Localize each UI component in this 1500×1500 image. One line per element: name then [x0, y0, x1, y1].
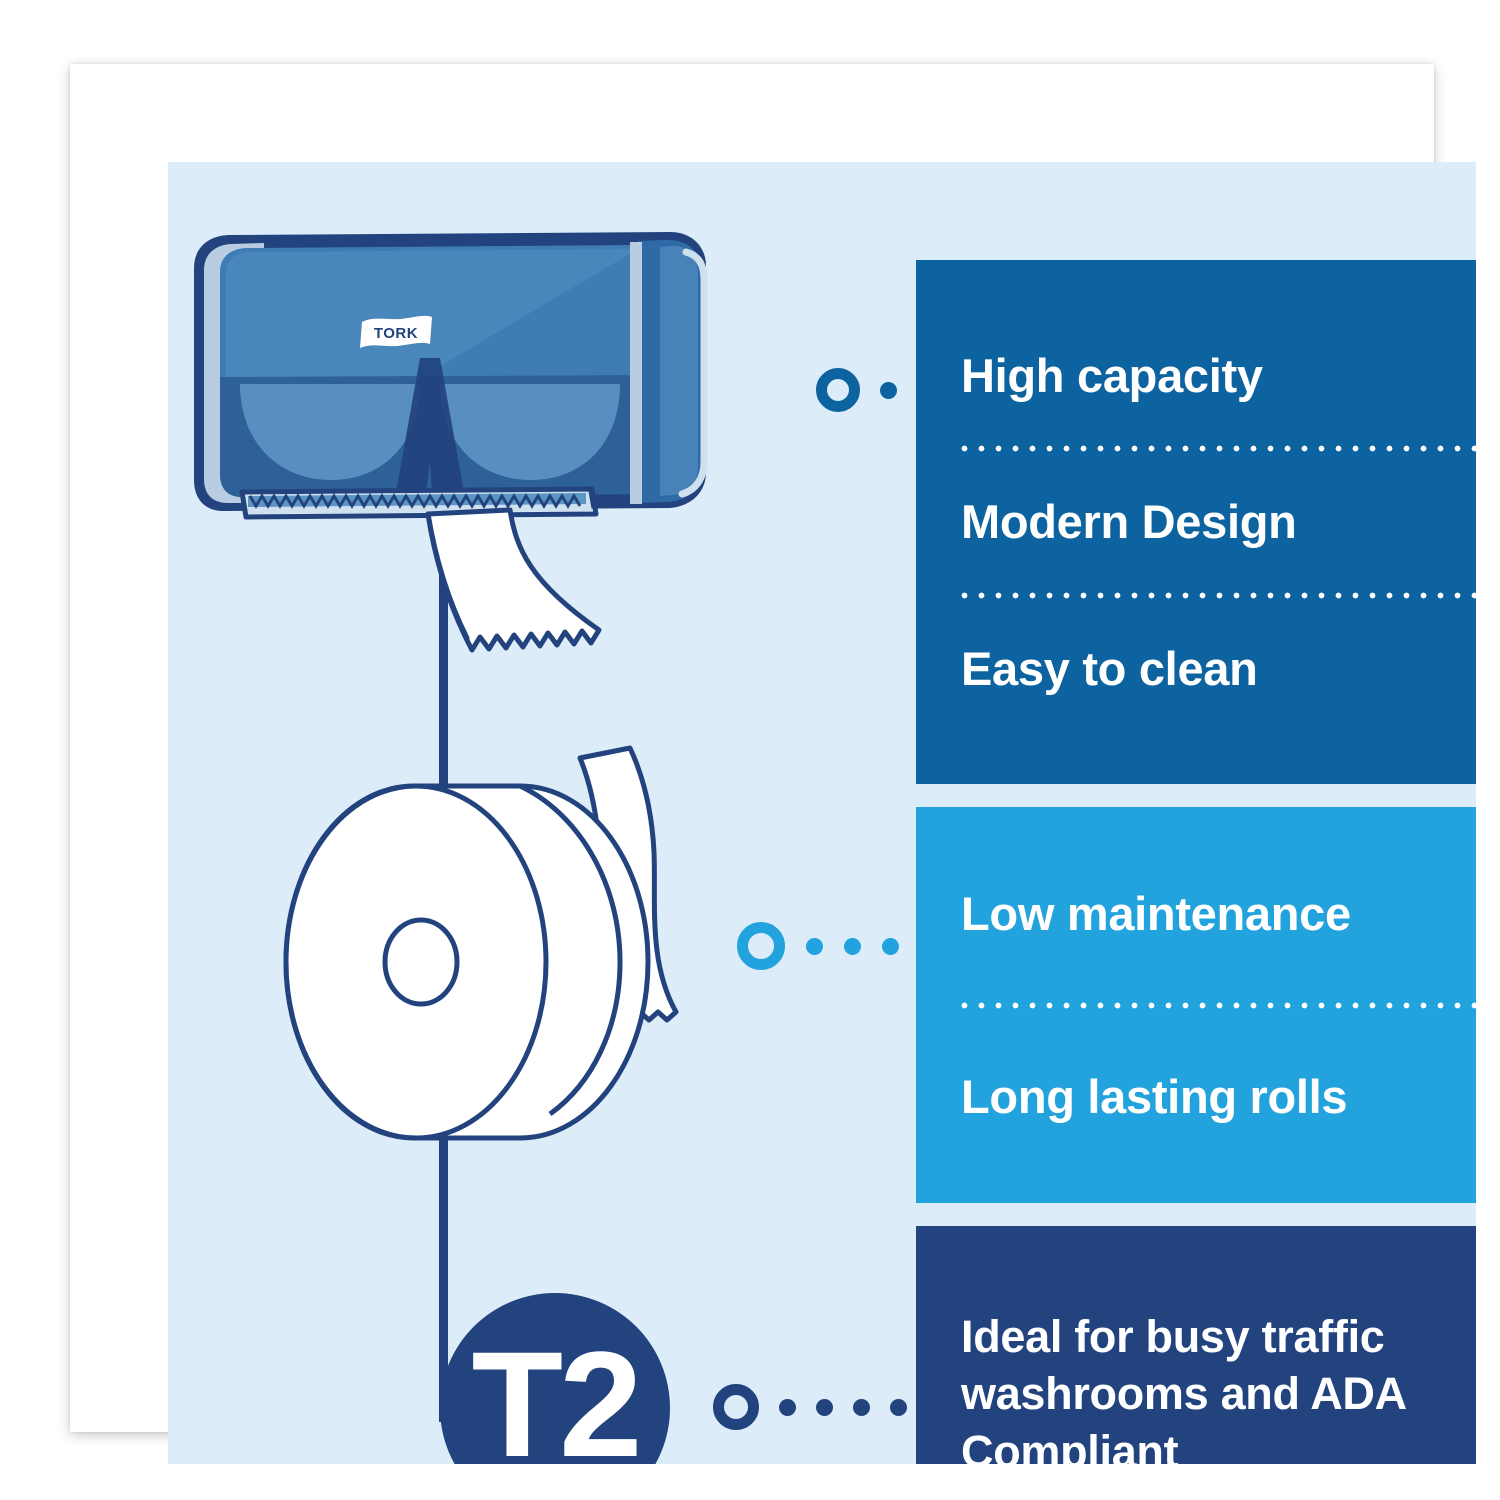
connector-dot-icon: [853, 1399, 870, 1416]
connector-dot-icon: [880, 382, 897, 399]
feature-item: Long lasting rolls: [961, 1072, 1476, 1121]
dotted-divider: [961, 592, 1476, 599]
feature-item: Low maintenance: [961, 889, 1476, 938]
illustration-canvas: TORK: [168, 162, 1476, 1464]
feature-panel-high-capacity: High capacity Modern Design Easy to clea…: [916, 260, 1476, 784]
dotted-divider: [961, 445, 1476, 452]
feature-panel-content: Ideal for busy traffic washrooms and ADA…: [961, 1226, 1476, 1464]
product-illustration: TORK: [168, 162, 928, 1464]
feature-item: Easy to clean: [961, 644, 1476, 693]
infographic-stage: TORK: [0, 0, 1500, 1500]
feature-item: High capacity: [961, 351, 1476, 400]
feature-item: Ideal for busy traffic washrooms and ADA…: [961, 1308, 1476, 1464]
product-card: TORK: [70, 64, 1434, 1432]
illustration-svg: TORK: [168, 162, 928, 1464]
connector-dot-icon: [890, 1399, 907, 1416]
connector-dot-icon: [779, 1399, 796, 1416]
connector-ring-icon: [816, 368, 860, 412]
connector-dot-icon: [844, 938, 861, 955]
svg-text:TORK: TORK: [374, 325, 418, 342]
connector-ring-icon: [713, 1384, 759, 1430]
toilet-roll-icon: [286, 748, 676, 1138]
connector-ring-icon: [737, 922, 785, 970]
feature-panel-content: Low maintenance Long lasting rolls: [961, 807, 1476, 1203]
feature-panel-low-maintenance: Low maintenance Long lasting rolls: [916, 807, 1476, 1203]
paper-tail-icon: [428, 510, 599, 650]
connector-dot-icon: [806, 938, 823, 955]
feature-item: Modern Design: [961, 497, 1476, 546]
connector-dot-icon: [816, 1399, 833, 1416]
dotted-divider: [961, 1002, 1476, 1009]
feature-panel-ideal-traffic: Ideal for busy traffic washrooms and ADA…: [916, 1226, 1476, 1464]
feature-panel-content: High capacity Modern Design Easy to clea…: [961, 260, 1476, 784]
t2-badge-label: T2: [471, 1329, 638, 1464]
connector-dot-icon: [882, 938, 899, 955]
dispenser-icon: TORK: [194, 232, 706, 517]
